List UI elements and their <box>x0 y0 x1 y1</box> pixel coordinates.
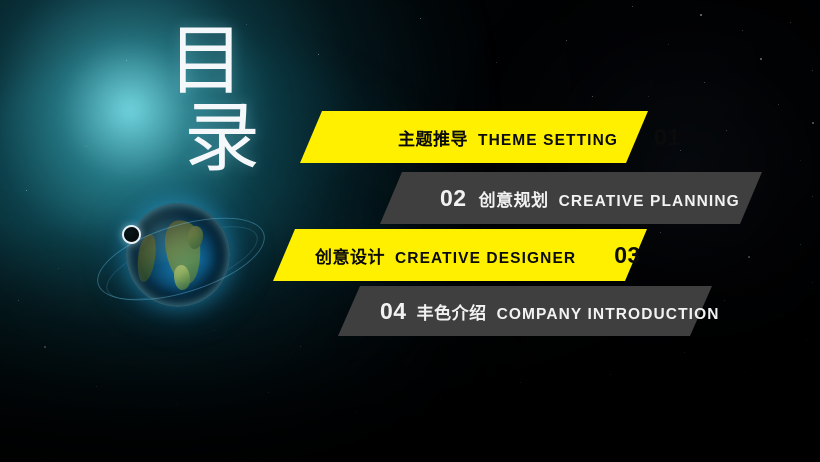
toc-list: 主题推导 THEME SETTING 01 02 创意规划 CREATIVE P… <box>0 0 820 462</box>
toc-item-03-label: 创意设计 CREATIVE DESIGNER 03 <box>315 242 641 269</box>
toc-item-02-label: 02 创意规划 CREATIVE PLANNING <box>440 185 740 212</box>
toc-item-04-cn: 丰色介绍 <box>417 299 487 324</box>
toc-item-04[interactable]: 04 丰色介绍 COMPANY INTRODUCTION <box>338 286 712 336</box>
toc-item-01-en: THEME SETTING <box>478 132 618 150</box>
toc-item-04-number: 04 <box>380 298 407 325</box>
toc-item-01-number: 01 <box>654 124 681 151</box>
toc-item-03[interactable]: 创意设计 CREATIVE DESIGNER 03 <box>273 229 647 281</box>
toc-item-01-cn: 主题推导 <box>398 125 468 150</box>
toc-item-03-number: 03 <box>614 242 641 269</box>
toc-item-01[interactable]: 主题推导 THEME SETTING 01 <box>300 111 648 163</box>
toc-item-03-cn: 创意设计 <box>315 243 385 268</box>
toc-item-02[interactable]: 02 创意规划 CREATIVE PLANNING <box>380 172 762 224</box>
toc-item-02-en: CREATIVE PLANNING <box>559 193 740 211</box>
toc-item-04-en: COMPANY INTRODUCTION <box>497 306 720 324</box>
toc-item-01-label: 主题推导 THEME SETTING 01 <box>398 124 681 151</box>
toc-item-02-cn: 创意规划 <box>479 186 549 211</box>
toc-item-04-label: 04 丰色介绍 COMPANY INTRODUCTION <box>380 298 720 325</box>
toc-item-02-number: 02 <box>440 185 467 212</box>
toc-item-03-en: CREATIVE DESIGNER <box>395 250 576 268</box>
presentation-slide: 目 录 主题推导 THEME SETTING 01 02 创意规划 CREATI… <box>0 0 820 462</box>
